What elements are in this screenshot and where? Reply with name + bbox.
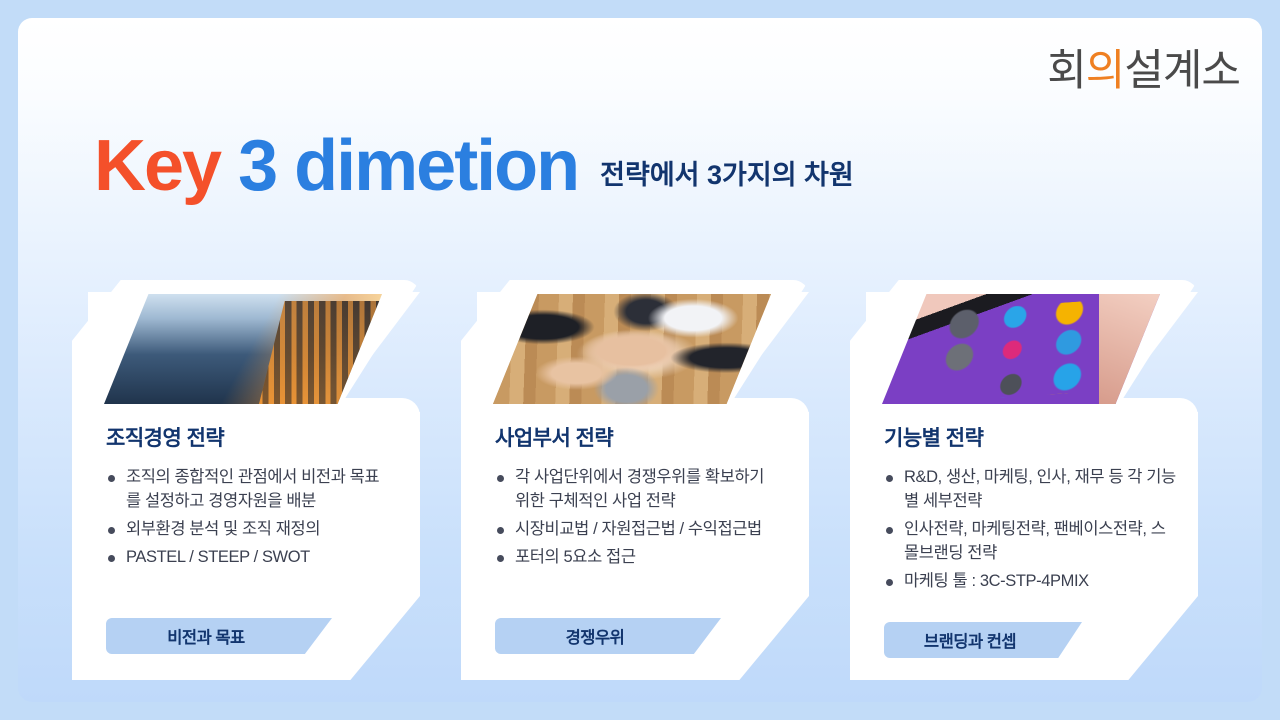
- card-content: 기능별 전략 R&D, 생산, 마케팅, 인사, 재무 등 각 기능별 세부전략…: [884, 422, 1176, 598]
- strategy-card[interactable]: 사업부서 전략 각 사업단위에서 경쟁우위를 확보하기 위한 구체적인 사업 전…: [461, 280, 809, 680]
- logo-suffix-text: 설계소: [1124, 36, 1240, 98]
- strategy-card[interactable]: 조직경영 전략 조직의 종합적인 관점에서 비전과 목표를 설정하고 경영자원을…: [72, 280, 420, 680]
- card-photo: [493, 294, 771, 404]
- card-badge[interactable]: 비전과 목표: [106, 618, 332, 654]
- list-item: R&D, 생산, 마케팅, 인사, 재무 등 각 기능별 세부전략: [884, 466, 1176, 514]
- list-item: 시장비교법 / 자원접근법 / 수익접근법: [495, 518, 773, 542]
- card-bullet-list: R&D, 생산, 마케팅, 인사, 재무 등 각 기능별 세부전략 인사전략, …: [884, 466, 1176, 594]
- list-item: PASTEL / STEEP / SWOT: [106, 546, 384, 570]
- city-skyscrapers-photo: [104, 294, 382, 404]
- card-photo: [104, 294, 382, 404]
- card-badge-label: 경쟁우위: [566, 624, 625, 648]
- page-title: Key 3 dimetion 전략에서 3가지의 차원: [94, 130, 854, 202]
- card-content: 조직경영 전략 조직의 종합적인 관점에서 비전과 목표를 설정하고 경영자원을…: [106, 422, 384, 574]
- card-badge-label: 비전과 목표: [167, 624, 244, 648]
- title-main-word: 3 dimetion: [238, 130, 578, 202]
- teamwork-hands-photo: [493, 294, 771, 404]
- card-title: 조직경영 전략: [106, 422, 384, 452]
- list-item: 외부환경 분석 및 조직 재정의: [106, 518, 384, 542]
- smartphone-social-apps-photo: [882, 294, 1160, 404]
- card-badge-label: 브랜딩과 컨셉: [924, 628, 1016, 652]
- cards-row: 조직경영 전략 조직의 종합적인 관점에서 비전과 목표를 설정하고 경영자원을…: [18, 280, 1262, 700]
- list-item: 포터의 5요소 접근: [495, 546, 773, 570]
- card-title: 사업부서 전략: [495, 422, 773, 452]
- list-item: 인사전략, 마케팅전략, 팬베이스전략, 스몰브랜딩 전략: [884, 518, 1176, 566]
- card-bullet-list: 각 사업단위에서 경쟁우위를 확보하기 위한 구체적인 사업 전략 시장비교법 …: [495, 466, 773, 570]
- brand-logo: 회 의 설계소: [1047, 36, 1240, 98]
- logo-prefix-text: 회: [1047, 36, 1086, 98]
- list-item: 마케팅 툴 : 3C-STP-4PMIX: [884, 570, 1176, 594]
- card-content: 사업부서 전략 각 사업단위에서 경쟁우위를 확보하기 위한 구체적인 사업 전…: [495, 422, 773, 574]
- card-bullet-list: 조직의 종합적인 관점에서 비전과 목표를 설정하고 경영자원을 배분 외부환경…: [106, 466, 384, 570]
- card-badge[interactable]: 브랜딩과 컨셉: [884, 622, 1082, 658]
- title-key-word: Key: [94, 130, 220, 202]
- card-badge[interactable]: 경쟁우위: [495, 618, 721, 654]
- card-photo: [882, 294, 1160, 404]
- strategy-card[interactable]: 기능별 전략 R&D, 생산, 마케팅, 인사, 재무 등 각 기능별 세부전략…: [850, 280, 1198, 680]
- title-subtitle: 전략에서 3가지의 차원: [600, 153, 854, 192]
- slide-canvas: 회 의 설계소 Key 3 dimetion 전략에서 3가지의 차원 조직경영…: [18, 18, 1262, 702]
- list-item: 각 사업단위에서 경쟁우위를 확보하기 위한 구체적인 사업 전략: [495, 466, 773, 514]
- logo-accent-glyph-icon: 의: [1086, 36, 1125, 98]
- card-title: 기능별 전략: [884, 422, 1176, 452]
- slide-root: 회 의 설계소 Key 3 dimetion 전략에서 3가지의 차원 조직경영…: [0, 0, 1280, 720]
- list-item: 조직의 종합적인 관점에서 비전과 목표를 설정하고 경영자원을 배분: [106, 466, 384, 514]
